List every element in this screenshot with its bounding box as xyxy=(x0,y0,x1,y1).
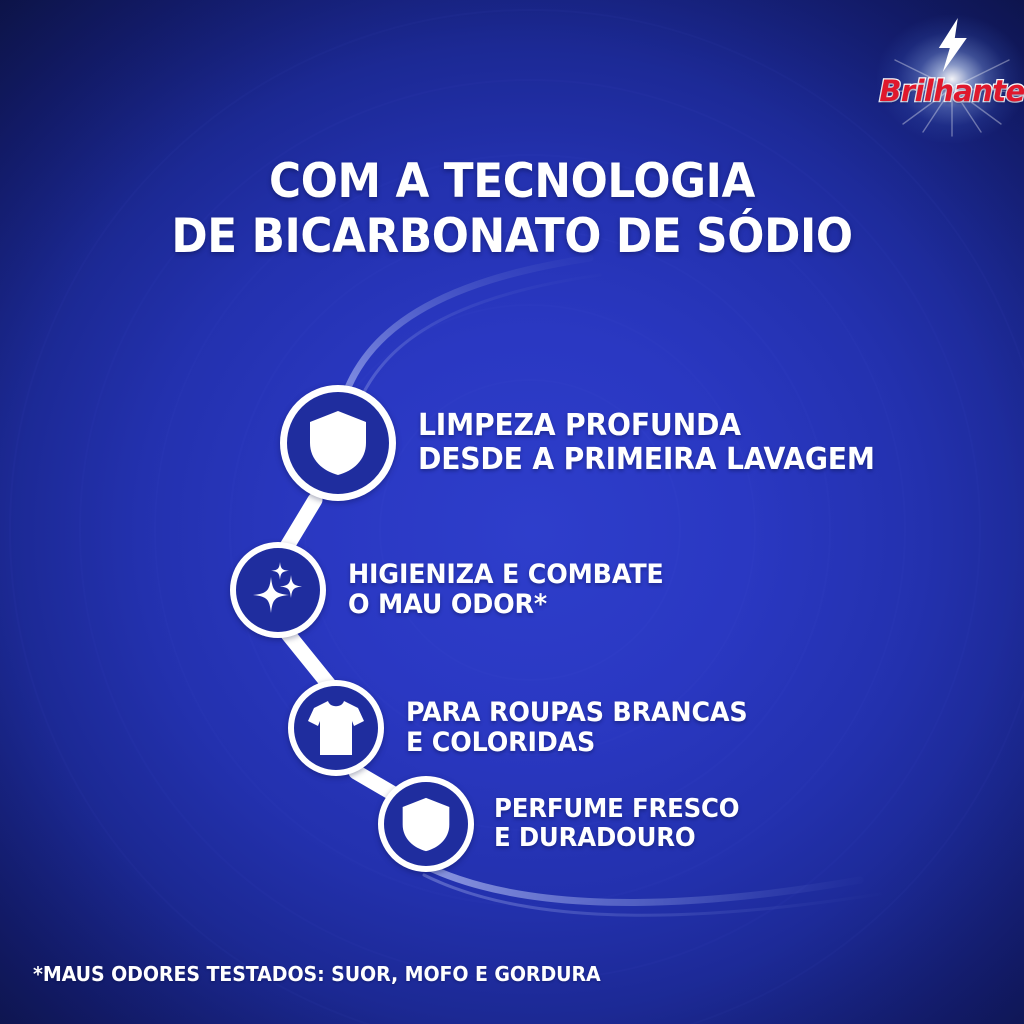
feature-line-2: E COLORIDAS xyxy=(406,728,747,759)
feature-badge xyxy=(378,776,474,872)
feature-text: HIGIENIZA E COMBATE O MAU ODOR* xyxy=(348,560,664,621)
feature-line-1: LIMPEZA PROFUNDA xyxy=(418,409,875,443)
headline-line-2: DE BICARBONATO DE SÓDIO xyxy=(36,210,988,265)
feature-item: PERFUME FRESCO E DURADOURO xyxy=(378,776,755,872)
promo-poster: Brilhante COM A TECNOLOGIA DE BICARBONAT… xyxy=(0,0,1024,1024)
feature-text: PERFUME FRESCO E DURADOURO xyxy=(494,795,739,854)
shield-icon xyxy=(401,796,451,853)
feature-badge xyxy=(288,680,384,776)
connector-2-3 xyxy=(288,634,330,686)
footnote: *MAUS ODORES TESTADOS: SUOR, MOFO E GORD… xyxy=(33,962,601,986)
feature-badge xyxy=(280,385,396,501)
feature-item: LIMPEZA PROFUNDA DESDE A PRIMEIRA LAVAGE… xyxy=(280,385,904,501)
brand-logo: Brilhante xyxy=(892,14,1012,126)
feature-text: LIMPEZA PROFUNDA DESDE A PRIMEIRA LAVAGE… xyxy=(418,409,875,477)
lightning-bolt-icon xyxy=(933,18,973,72)
feature-line-1: HIGIENIZA E COMBATE xyxy=(348,560,664,591)
page-title: COM A TECNOLOGIA DE BICARBONATO DE SÓDIO xyxy=(36,155,988,264)
feature-badge xyxy=(230,542,326,638)
tshirt-icon xyxy=(306,699,366,757)
sparkles-icon xyxy=(247,559,309,621)
feature-line-2: DESDE A PRIMEIRA LAVAGEM xyxy=(418,443,875,477)
connector-1-2 xyxy=(286,500,315,548)
headline-line-1: COM A TECNOLOGIA xyxy=(269,154,755,209)
feature-line-2: O MAU ODOR* xyxy=(348,590,664,621)
feature-line-2: E DURADOURO xyxy=(494,824,739,853)
shield-icon xyxy=(308,409,368,477)
feature-item: HIGIENIZA E COMBATE O MAU ODOR* xyxy=(230,542,684,638)
brand-wordmark: Brilhante xyxy=(879,74,1024,108)
feature-line-1: PARA ROUPAS BRANCAS xyxy=(406,698,747,729)
feature-item: PARA ROUPAS BRANCAS E COLORIDAS xyxy=(288,680,769,776)
feature-line-1: PERFUME FRESCO xyxy=(494,795,739,824)
feature-text: PARA ROUPAS BRANCAS E COLORIDAS xyxy=(406,698,747,759)
